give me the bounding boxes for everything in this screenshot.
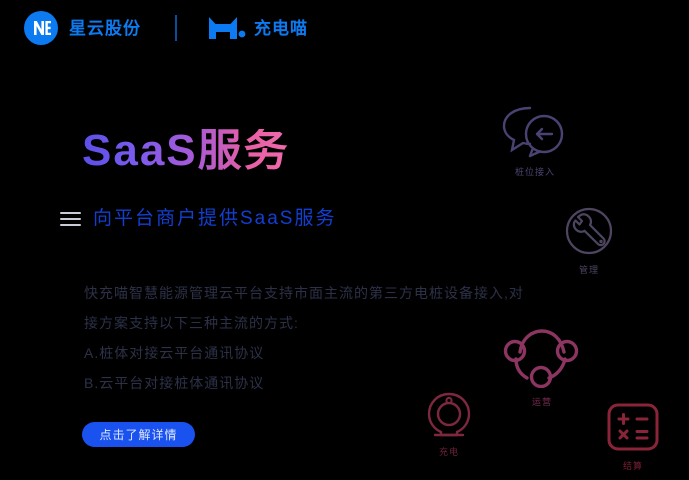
hero-section: SaaS服务 向平台商户提供SaaS服务 快充喵智慧能源管理云平台支持市面主流的… bbox=[0, 0, 689, 480]
deco-label: 运营 bbox=[532, 398, 552, 407]
deco-label: 管理 bbox=[579, 266, 599, 275]
share-nodes-icon bbox=[503, 326, 581, 393]
hamburger-icon bbox=[60, 212, 81, 226]
deco-management: 管理 bbox=[562, 206, 616, 275]
calculator-icon bbox=[606, 402, 660, 457]
subtitle-row: 向平台商户提供SaaS服务 bbox=[60, 209, 336, 228]
deco-charging: 充电 bbox=[425, 392, 473, 457]
deco-operations: 运营 bbox=[503, 326, 581, 407]
deco-label: 充电 bbox=[439, 448, 459, 457]
deco-label: 桩位接入 bbox=[515, 168, 555, 177]
deco-settlement: 结算 bbox=[606, 402, 660, 471]
page-subtitle: 向平台商户提供SaaS服务 bbox=[93, 209, 336, 228]
chat-bubbles-icon bbox=[500, 104, 570, 163]
page-root: 星云股份 充电喵 SaaS服务 向平台商户提供SaaS服务 快充喵智慧能源管理云… bbox=[0, 0, 689, 480]
learn-more-button[interactable]: 点击了解详情 bbox=[82, 422, 195, 447]
deco-pile-access: 桩位接入 bbox=[500, 104, 570, 177]
deco-label: 结算 bbox=[623, 462, 643, 471]
wrench-icon bbox=[562, 206, 616, 261]
body-line: 快充喵智慧能源管理云平台支持市面主流的第三方电桩设备接入,对 bbox=[84, 278, 584, 308]
page-title: SaaS服务 bbox=[82, 129, 290, 173]
charging-pile-icon bbox=[425, 392, 473, 443]
